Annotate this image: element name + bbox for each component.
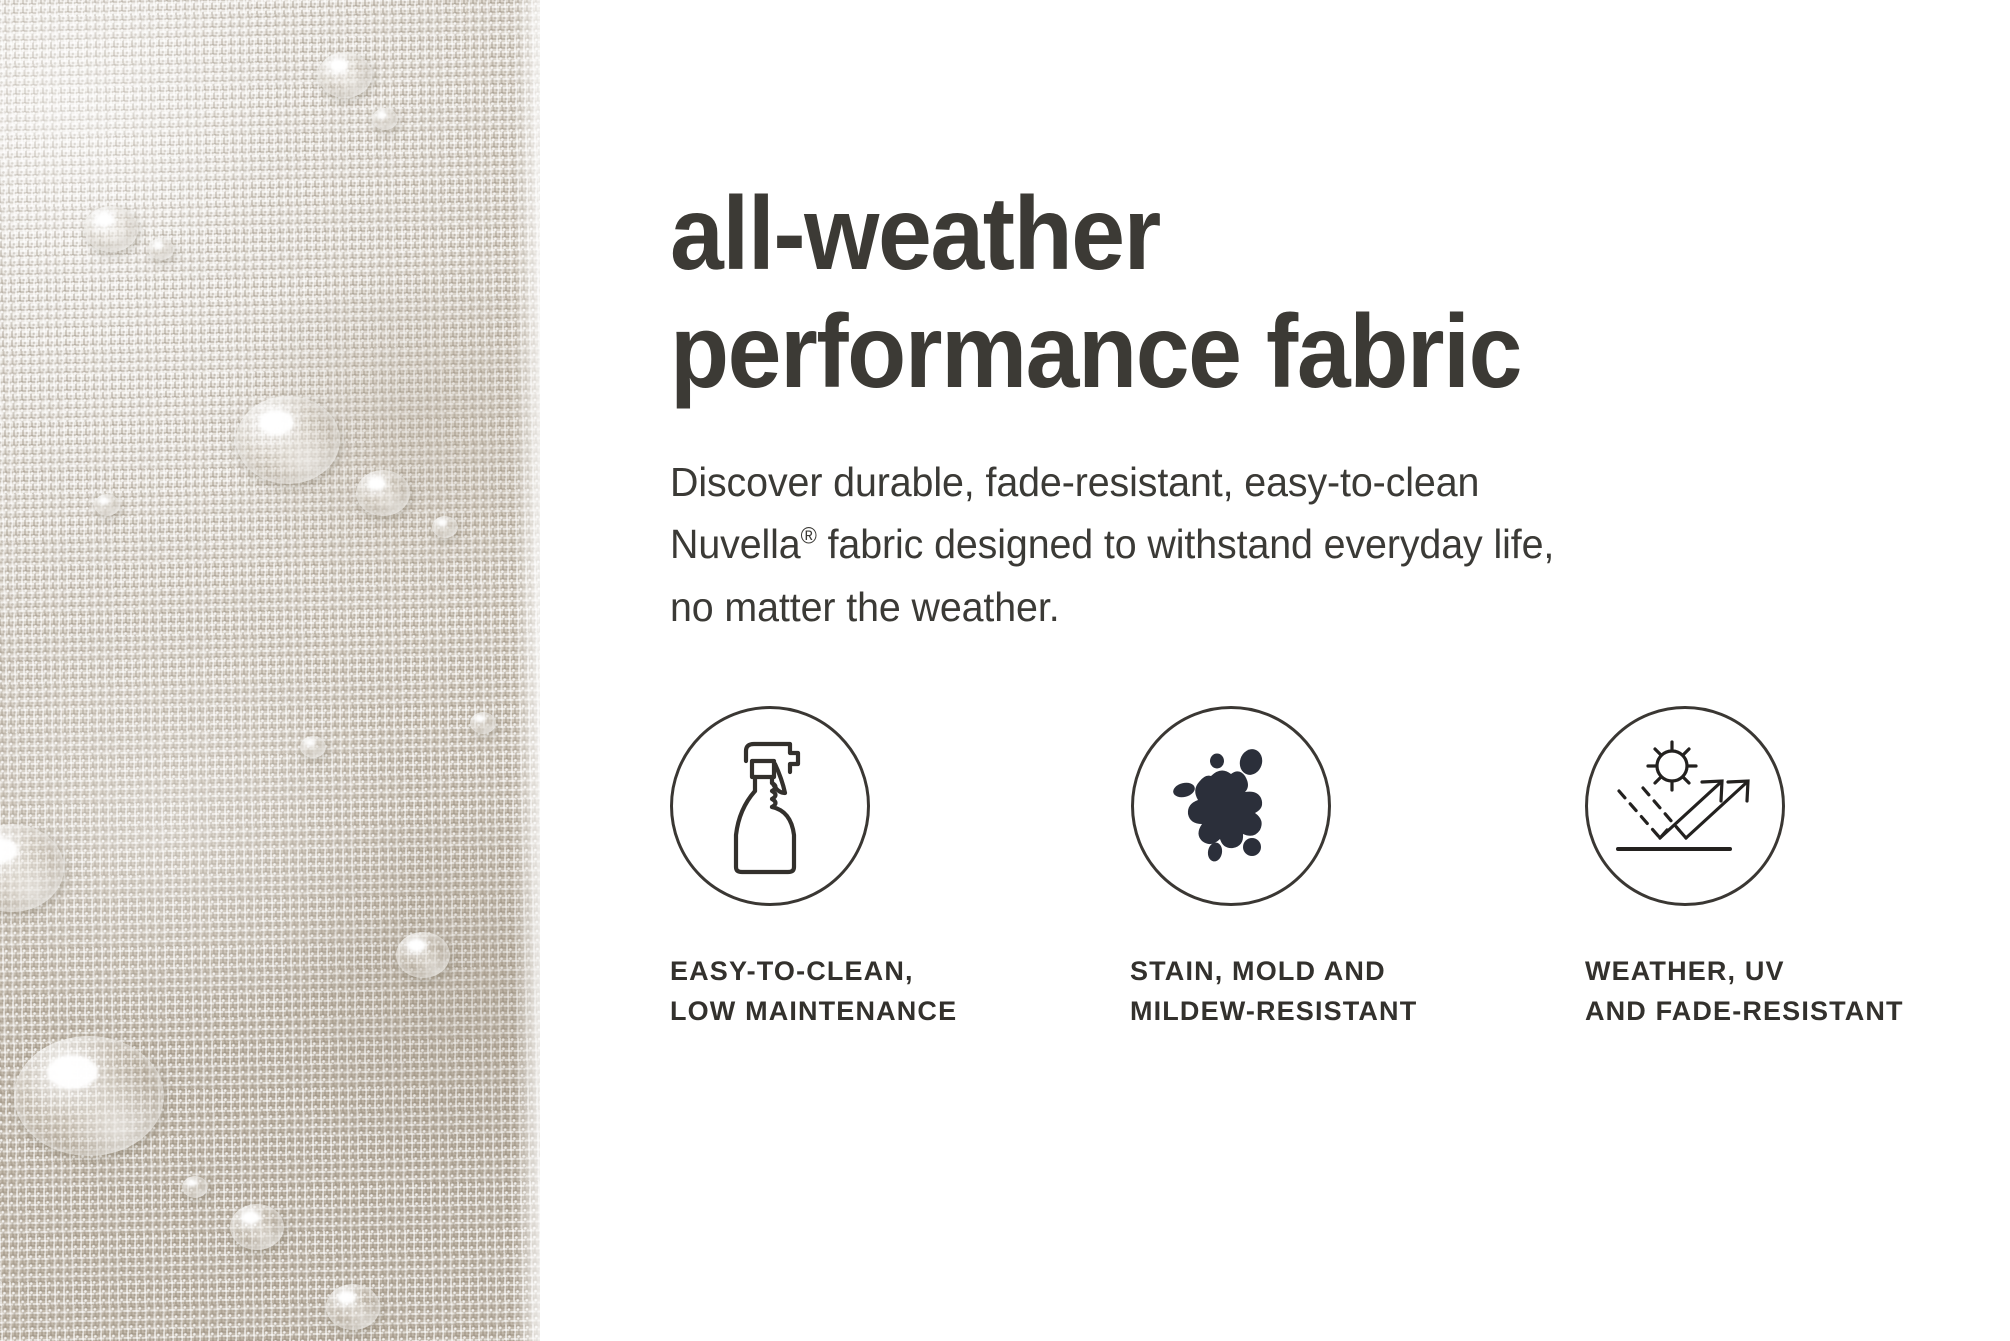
sun-uv-reflect-icon xyxy=(1612,739,1758,873)
spray-bottle-icon xyxy=(706,731,834,881)
water-droplet xyxy=(432,516,458,538)
subcopy-line-1: Discover durable, fade-resistant, easy-t… xyxy=(670,459,1479,505)
water-droplet xyxy=(94,494,120,516)
content-panel: all-weather performance fabric Discover … xyxy=(540,0,2010,1341)
water-droplet xyxy=(300,736,326,758)
feature-list: EASY-TO-CLEAN, LOW MAINTENANCE xyxy=(670,638,2000,1032)
icon-circle-frame xyxy=(1585,706,1785,906)
water-droplet xyxy=(14,1036,164,1156)
feature-caption: WEATHER, UV AND FADE-RESISTANT xyxy=(1585,906,1904,1032)
water-droplet xyxy=(182,1176,208,1198)
brand-name-nuvella: Nuvella xyxy=(670,521,801,567)
all-weather-fabric-banner: all-weather performance fabric Discover … xyxy=(0,0,2010,1341)
icon-circle-frame xyxy=(670,706,870,906)
water-droplet xyxy=(470,712,496,734)
water-droplet xyxy=(318,52,372,98)
water-droplet xyxy=(356,470,410,516)
water-droplet xyxy=(84,206,138,252)
feature-caption: STAIN, MOLD AND MILDEW-RESISTANT xyxy=(1130,906,1417,1032)
registered-trademark-icon: ® xyxy=(801,523,817,549)
stain-splat-icon xyxy=(1165,740,1297,872)
fabric-photo xyxy=(0,0,540,1341)
water-droplet xyxy=(396,932,450,978)
water-droplet xyxy=(372,108,398,130)
water-droplet xyxy=(230,1204,284,1250)
water-droplet xyxy=(148,238,174,260)
feature-item-stain-resistant: STAIN, MOLD AND MILDEW-RESISTANT xyxy=(1130,706,1585,1032)
subcopy-line-3: no matter the weather. xyxy=(670,584,1060,630)
subcopy-paragraph: Discover durable, fade-resistant, easy-t… xyxy=(670,411,1851,638)
icon-circle-frame xyxy=(1131,706,1331,906)
subcopy-line-2-rest: fabric designed to withstand everyday li… xyxy=(817,521,1554,567)
feature-item-uv-resistant: WEATHER, UV AND FADE-RESISTANT xyxy=(1585,706,2000,1032)
water-droplet xyxy=(326,1284,380,1330)
page-title: all-weather performance fabric xyxy=(670,176,1879,411)
photo-edge-fade xyxy=(514,0,540,1341)
water-droplet xyxy=(236,396,340,484)
feature-caption: EASY-TO-CLEAN, LOW MAINTENANCE xyxy=(670,906,957,1032)
feature-item-easy-to-clean: EASY-TO-CLEAN, LOW MAINTENANCE xyxy=(670,706,1130,1032)
